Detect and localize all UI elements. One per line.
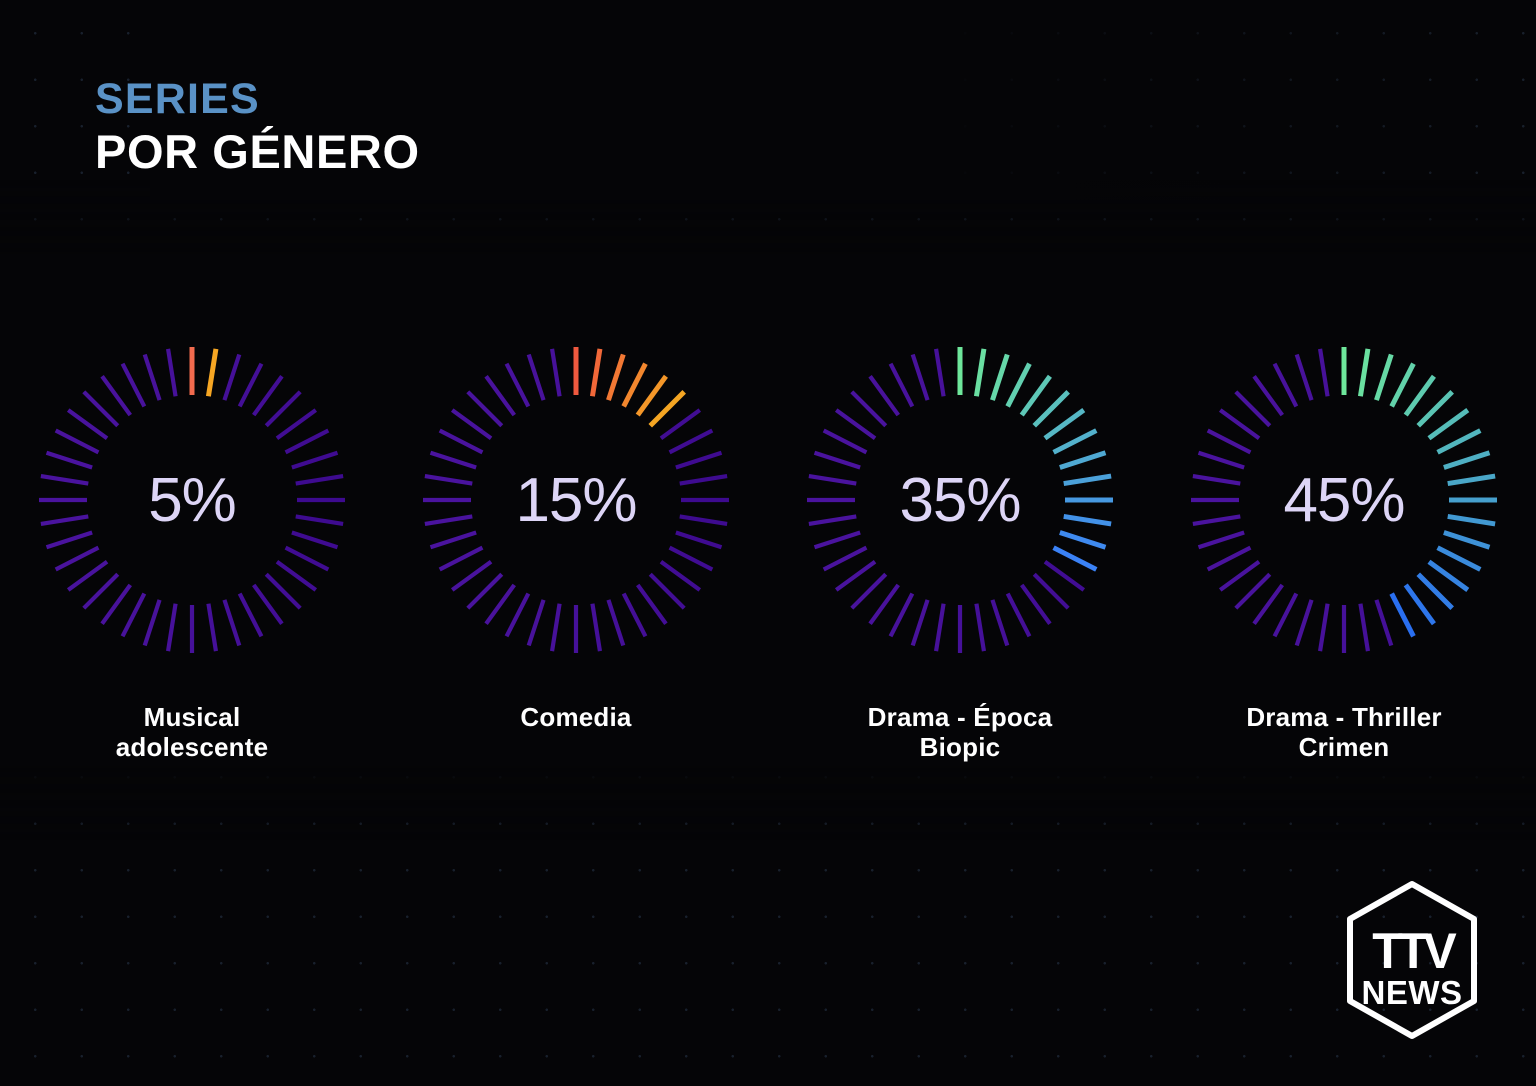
gauge-category-line-1: Musical bbox=[116, 702, 269, 732]
radial-gauge[interactable]: 15% bbox=[406, 330, 746, 670]
radial-gauge[interactable]: 5% bbox=[22, 330, 362, 670]
brand-logo: TTV NEWS bbox=[1336, 876, 1488, 1044]
radial-gauge[interactable]: 35% bbox=[790, 330, 1130, 670]
gauge-category-label: Drama - ÉpocaBiopic bbox=[868, 702, 1053, 762]
infographic-canvas: SERIES POR GÉNERO 5%Musicaladolescente15… bbox=[0, 0, 1536, 1086]
gauge-cell: 5%Musicaladolescente bbox=[0, 330, 384, 762]
gauge-category-label: Musicaladolescente bbox=[116, 702, 269, 762]
gauge-cell: 35%Drama - ÉpocaBiopic bbox=[768, 330, 1152, 762]
gauge-value-label: 35% bbox=[790, 330, 1130, 670]
gauge-category-line-2: Crimen bbox=[1246, 732, 1441, 762]
gauge-category-line-1: Drama - Thriller bbox=[1246, 702, 1441, 732]
logo-mark-text: TTV bbox=[1372, 923, 1457, 979]
gauge-category-label: Comedia bbox=[520, 702, 631, 732]
title-line-2: POR GÉNERO bbox=[95, 127, 420, 176]
logo-sub-text: NEWS bbox=[1362, 974, 1463, 1011]
gauge-category-label: Drama - ThrillerCrimen bbox=[1246, 702, 1441, 762]
gauge-cell: 15%Comedia bbox=[384, 330, 768, 762]
gauge-category-line-2: adolescente bbox=[116, 732, 269, 762]
gauge-cell: 45%Drama - ThrillerCrimen bbox=[1152, 330, 1536, 762]
gauge-category-line-1: Drama - Época bbox=[868, 702, 1053, 732]
gauge-value-label: 45% bbox=[1174, 330, 1514, 670]
title-line-1: SERIES bbox=[95, 78, 420, 122]
gauge-category-line-2: Biopic bbox=[868, 732, 1053, 762]
gauge-value-label: 5% bbox=[22, 330, 362, 670]
radial-gauge[interactable]: 45% bbox=[1174, 330, 1514, 670]
gauge-category-line-1: Comedia bbox=[520, 702, 631, 732]
page-title: SERIES POR GÉNERO bbox=[95, 78, 420, 176]
gauge-row: 5%Musicaladolescente15%Comedia35%Drama -… bbox=[0, 330, 1536, 762]
gauge-value-label: 15% bbox=[406, 330, 746, 670]
